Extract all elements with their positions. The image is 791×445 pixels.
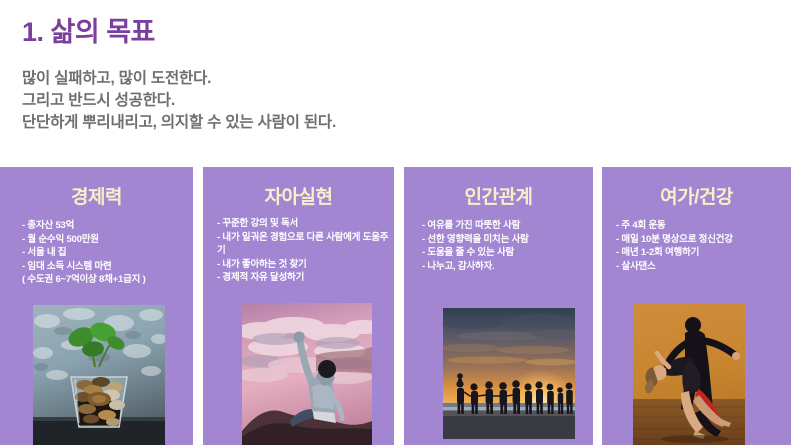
bullet-item: - 주 4회 운동	[616, 219, 791, 233]
bullet-item: - 도움을 줄 수 있는 사람	[422, 246, 593, 260]
people-holding-hands-sunset-beach-photo	[443, 308, 575, 439]
bullet-item: - 여유를 가진 따뜻한 사람	[422, 219, 593, 233]
bullet-item: - 내가 좋아하는 것 찾기	[217, 258, 394, 272]
bullet-item: - 월 순수익 500만원	[22, 233, 193, 247]
bullet-item: - 내가 일궈온 경험으로 다른 사람에게 도움주기	[217, 231, 394, 258]
bullet-item: - 서울 내 집	[22, 246, 193, 260]
card-heading: 경제력	[0, 182, 193, 209]
bullet-item: - 선한 영향력을 미치는 사람	[422, 233, 593, 247]
card-heading: 자아실현	[203, 182, 394, 209]
card-bullet-list: - 꾸준한 강의 및 독서 - 내가 일궈온 경험으로 다른 사람에게 도움주기…	[203, 217, 394, 285]
card-heading: 인간관계	[404, 182, 593, 209]
card-bullet-list: - 여유를 가진 따뜻한 사람 - 선한 영향력을 미치는 사람 - 도움을 줄…	[404, 219, 593, 273]
bullet-item: ( 수도권 6~7억이상 8채+1급지 )	[22, 273, 193, 287]
bullet-item: - 경제적 자유 달성하기	[217, 271, 394, 285]
subtitle-line-1: 많이 실패하고, 많이 도전한다.	[22, 68, 336, 90]
salsa-dance-couple-photo	[633, 303, 745, 445]
subtitle-line-2: 그리고 반드시 성공한다.	[22, 90, 336, 112]
card-heading: 여가/건강	[602, 182, 791, 209]
subtitle-line-3: 단단하게 뿌리내리고, 의지할 수 있는 사람이 된다.	[22, 112, 336, 134]
bullet-item: - 임대 소득 시스템 마련	[22, 260, 193, 274]
bullet-item: - 매년 1-2회 여행하기	[616, 246, 791, 260]
bullet-item: - 매일 10분 명상으로 정신건강	[616, 233, 791, 247]
coins-in-jar-with-sprout-photo	[33, 305, 165, 445]
bullet-item: - 꾸준한 강의 및 독서	[217, 217, 394, 231]
bullet-item: - 살사댄스	[616, 260, 791, 274]
slide-header: 1. 삶의 목표 많이 실패하고, 많이 도전한다. 그리고 반드시 성공한다.…	[0, 0, 791, 167]
card-bullet-list: - 총자산 53억 - 월 순수익 500만원 - 서울 내 집 - 임대 소득…	[0, 219, 193, 287]
page-title: 1. 삶의 목표	[22, 10, 155, 49]
subtitle-block: 많이 실패하고, 많이 도전한다. 그리고 반드시 성공한다. 단단하게 뿌리내…	[22, 68, 336, 134]
card-bullet-list: - 주 4회 운동 - 매일 10분 명상으로 정신건강 - 매년 1-2회 여…	[602, 219, 791, 273]
bullet-item: - 나누고, 감사하자.	[422, 260, 593, 274]
person-raising-arm-above-clouds-photo	[242, 303, 372, 445]
bullet-item: - 총자산 53억	[22, 219, 193, 233]
